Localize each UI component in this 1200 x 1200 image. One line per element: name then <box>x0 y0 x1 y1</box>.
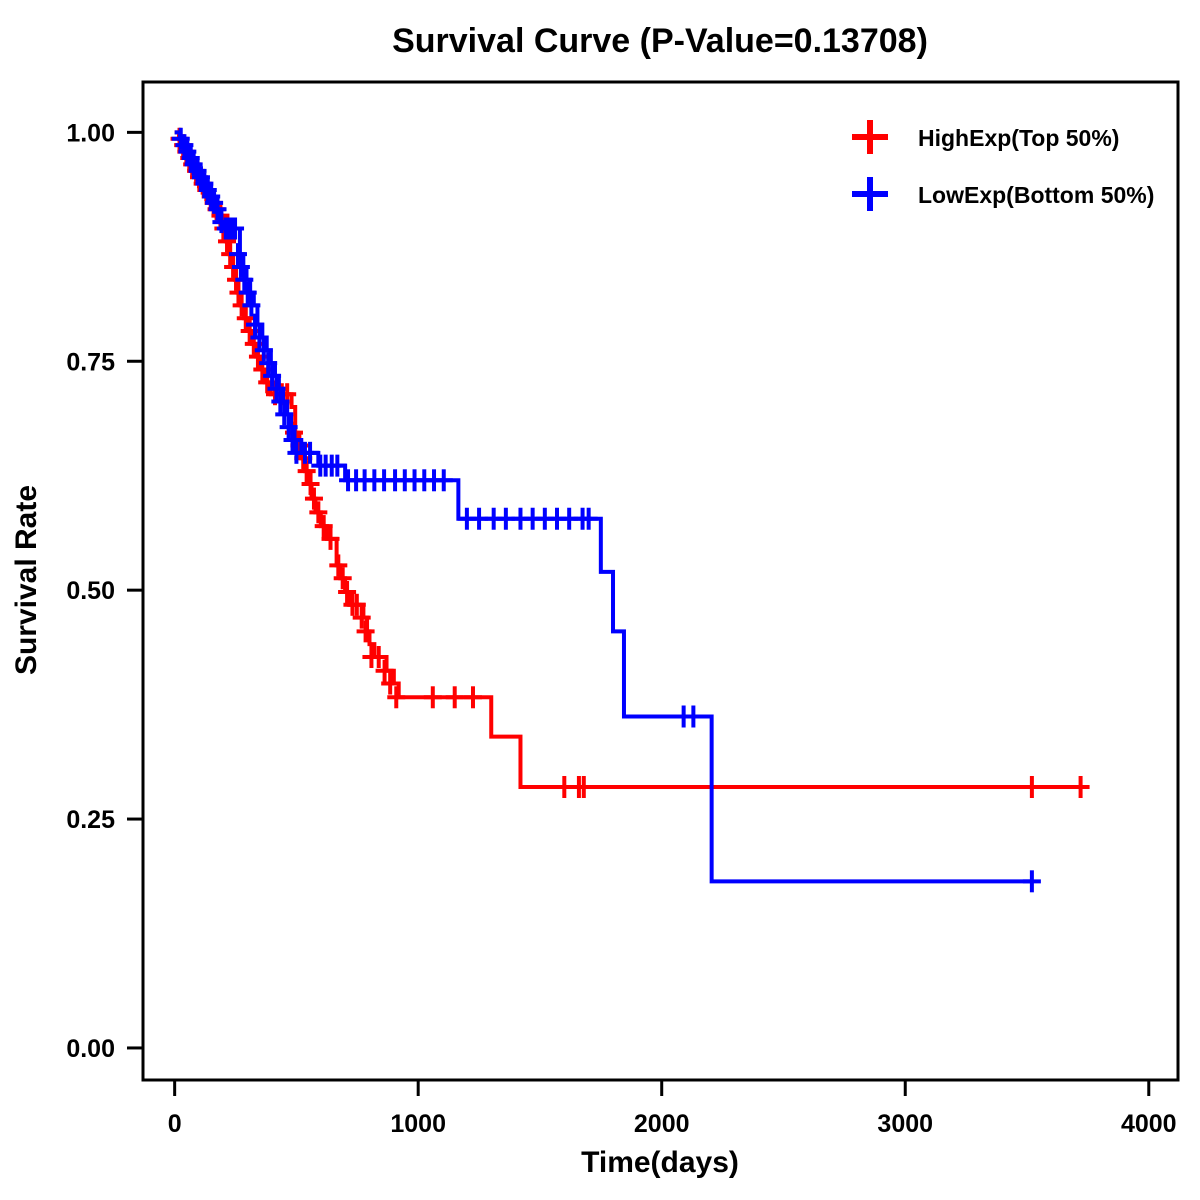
legend-label: HighExp(Top 50%) <box>918 125 1119 151</box>
y-tick-label: 1.00 <box>66 119 115 147</box>
y-axis-label: Survival Rate <box>10 485 43 675</box>
legend-label: LowExp(Bottom 50%) <box>918 182 1154 208</box>
x-tick-label: 1000 <box>390 1110 446 1138</box>
survival-curve-chart: Survival Curve (P-Value=0.13708) 0100020… <box>0 0 1200 1200</box>
y-tick-label: 0.25 <box>66 806 115 834</box>
x-tick-label: 2000 <box>634 1110 690 1138</box>
chart-canvas: Survival Curve (P-Value=0.13708) 0100020… <box>0 0 1200 1200</box>
y-tick-label: 0.50 <box>66 577 115 605</box>
x-axis-label: Time(days) <box>581 1146 739 1179</box>
x-tick-label: 0 <box>168 1110 182 1138</box>
x-tick-label: 4000 <box>1121 1110 1177 1138</box>
y-tick-label: 0.00 <box>66 1035 115 1063</box>
page-title: Survival Curve (P-Value=0.13708) <box>392 22 928 60</box>
y-tick-label: 0.75 <box>66 348 115 376</box>
x-tick-label: 3000 <box>877 1110 933 1138</box>
chart-background <box>0 0 1200 1200</box>
